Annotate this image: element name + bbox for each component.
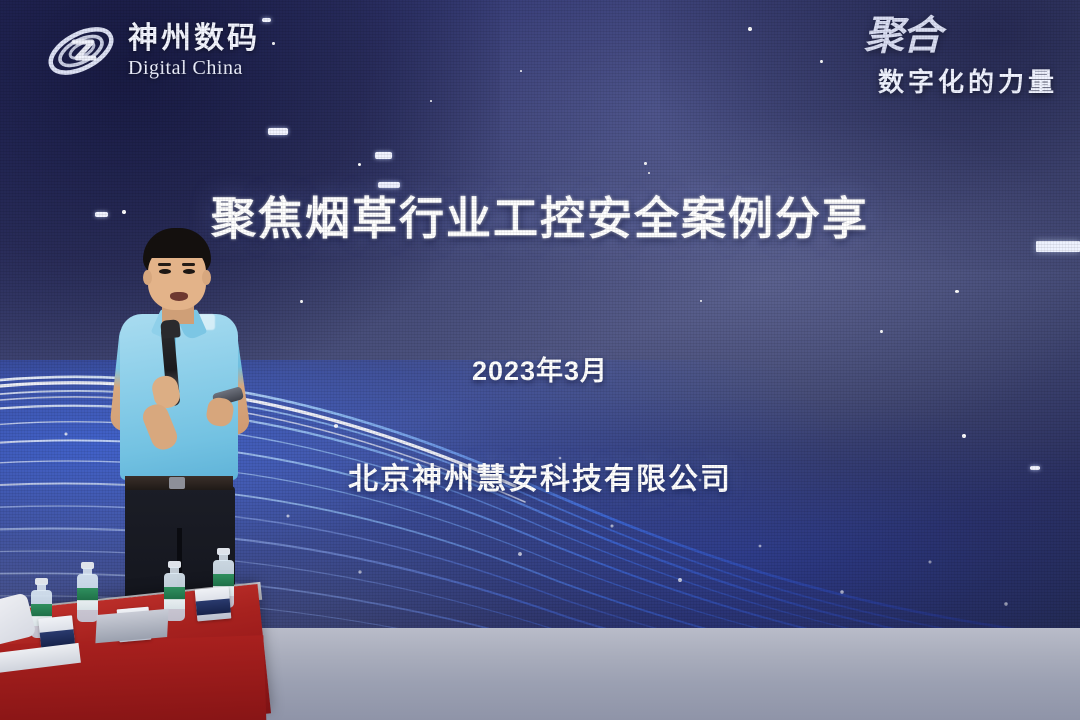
speaker-eyebrow-right xyxy=(182,263,195,266)
bottle-label xyxy=(164,587,185,609)
screen-particle xyxy=(955,290,959,293)
screen-particle xyxy=(748,27,752,31)
screen-particle xyxy=(262,18,271,22)
speaker-belt-buckle xyxy=(169,477,185,489)
event-logo-tagline: 数字化的力量 xyxy=(798,62,1058,99)
microphone-head xyxy=(160,319,180,339)
screen-particle xyxy=(644,162,647,165)
screen-particle xyxy=(520,70,522,72)
screen-particle xyxy=(300,300,303,303)
screen-particle xyxy=(375,152,392,159)
screen-particle xyxy=(358,163,361,166)
brand-name-chinese: 神州数码 xyxy=(128,24,260,54)
screen-particle xyxy=(880,330,883,333)
speaker-presenter xyxy=(95,228,285,633)
speaker-hair-fringe xyxy=(144,236,210,258)
speaker-ear-right xyxy=(202,270,211,285)
screen-particle xyxy=(648,172,650,174)
name-card-band xyxy=(196,599,231,615)
speaker-eye-left xyxy=(159,269,171,274)
speaker-mouth xyxy=(170,292,188,301)
screen-particle xyxy=(268,128,288,135)
event-logo: 聚合 数字化的力量 xyxy=(798,16,1058,99)
screen-particle xyxy=(272,42,275,45)
speaker-eyebrow-left xyxy=(158,263,171,266)
digital-china-swirl-icon xyxy=(44,20,118,82)
speaker-eye-right xyxy=(183,269,195,274)
bottle-label xyxy=(77,588,98,610)
conference-stage-photo: 神州数码 Digital China 聚合 数字化的力量 聚焦烟草行业工控安全案… xyxy=(0,0,1080,720)
screen-particle xyxy=(700,300,702,302)
event-logo-calligraphy: 聚合 xyxy=(798,16,940,56)
name-card xyxy=(195,587,232,622)
speaker-ear-left xyxy=(143,270,152,285)
digital-china-wordmark: 神州数码 Digital China xyxy=(128,24,260,78)
screen-particle xyxy=(430,100,432,102)
brand-name-english: Digital China xyxy=(128,58,260,78)
digital-china-logo: 神州数码 Digital China xyxy=(44,20,260,82)
